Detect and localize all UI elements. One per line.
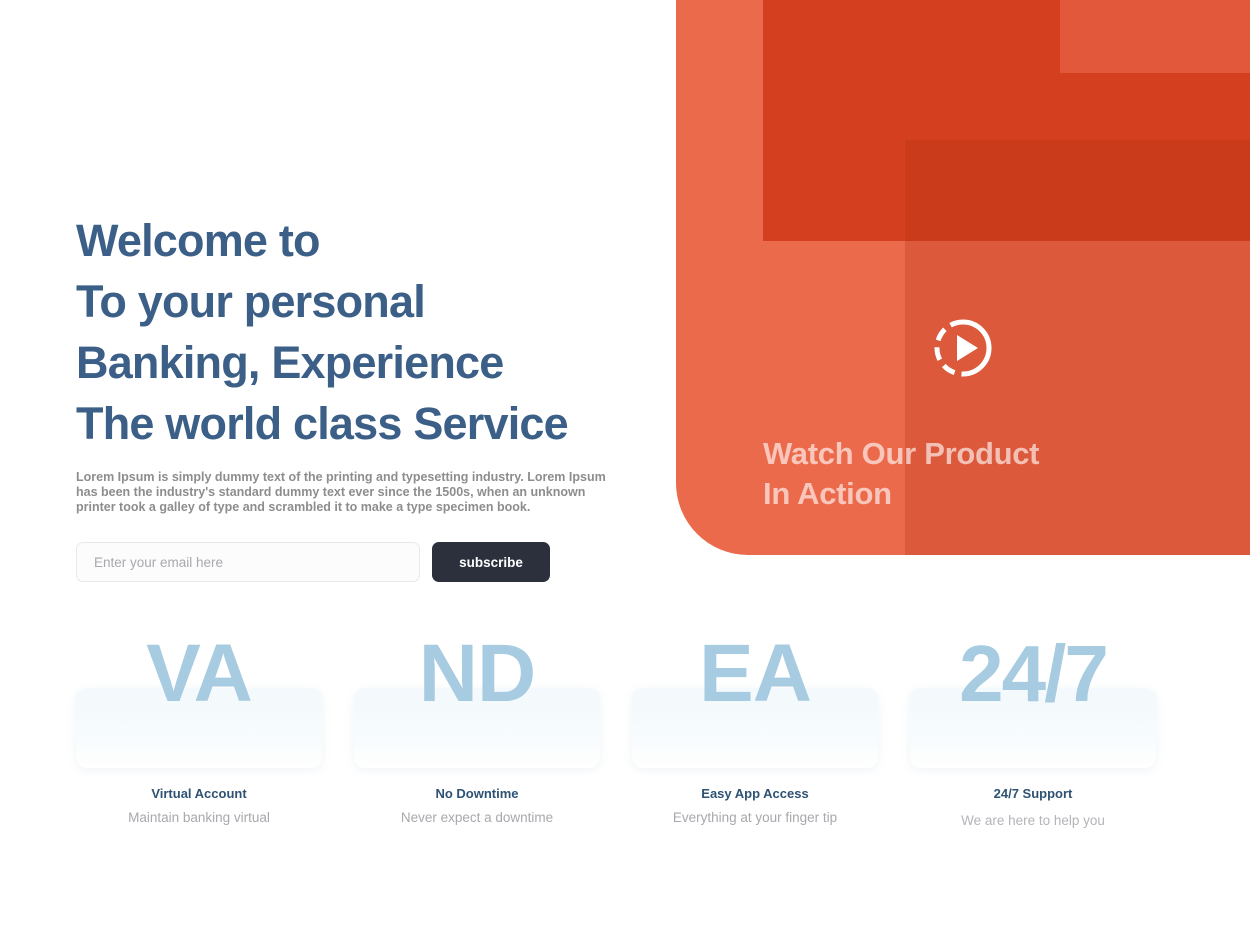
list-item[interactable]: ND No Downtime Never expect a downtime: [354, 660, 600, 828]
hero-content: Welcome to To your personal Banking, Exp…: [76, 210, 676, 582]
subscribe-form: subscribe: [76, 542, 550, 582]
feature-subtitle: Maintain banking virtual: [76, 810, 322, 825]
play-circle-icon[interactable]: [932, 317, 994, 379]
list-item[interactable]: EA Easy App Access Everything at your fi…: [632, 660, 878, 828]
decorative-light-rectangle: [1060, 0, 1250, 73]
feature-card[interactable]: EA: [632, 688, 878, 768]
feature-card[interactable]: ND: [354, 688, 600, 768]
video-caption: Watch Our Product In Action: [763, 434, 1103, 514]
page-title: Welcome to To your personal Banking, Exp…: [76, 210, 676, 454]
hero-description: Lorem Ipsum is simply dummy text of the …: [76, 470, 606, 515]
feature-title: Virtual Account: [76, 786, 322, 801]
feature-subtitle: Never expect a downtime: [354, 810, 600, 825]
video-caption-line-1: Watch Our Product: [763, 436, 1039, 471]
email-field[interactable]: [76, 542, 420, 582]
feature-title: Easy App Access: [632, 786, 878, 801]
subscribe-button[interactable]: subscribe: [432, 542, 550, 582]
heading-line-1: Welcome to: [76, 210, 676, 271]
feature-card[interactable]: 24/7: [910, 688, 1156, 768]
feature-card[interactable]: VA: [76, 688, 322, 768]
feature-subtitle: Everything at your finger tip: [632, 810, 878, 825]
list-item[interactable]: 24/7 24/7 Support We are here to help yo…: [910, 660, 1156, 828]
heading-line-3: Banking, Experience: [76, 332, 676, 393]
feature-initials: 24/7: [910, 633, 1156, 715]
list-item[interactable]: VA Virtual Account Maintain banking virt…: [76, 660, 322, 828]
feature-initials: EA: [632, 633, 878, 715]
heading-line-4: The world class Service: [76, 393, 676, 454]
feature-title: No Downtime: [354, 786, 600, 801]
landing-page: Watch Our Product In Action Welcome to T…: [0, 0, 1250, 938]
feature-initials: ND: [354, 633, 600, 715]
feature-title: 24/7 Support: [910, 786, 1156, 801]
video-caption-line-2: In Action: [763, 474, 1103, 514]
feature-list: VA Virtual Account Maintain banking virt…: [76, 660, 1174, 828]
feature-subtitle: We are here to help you: [910, 813, 1156, 828]
heading-line-2: To your personal: [76, 271, 676, 332]
feature-initials: VA: [76, 633, 322, 715]
